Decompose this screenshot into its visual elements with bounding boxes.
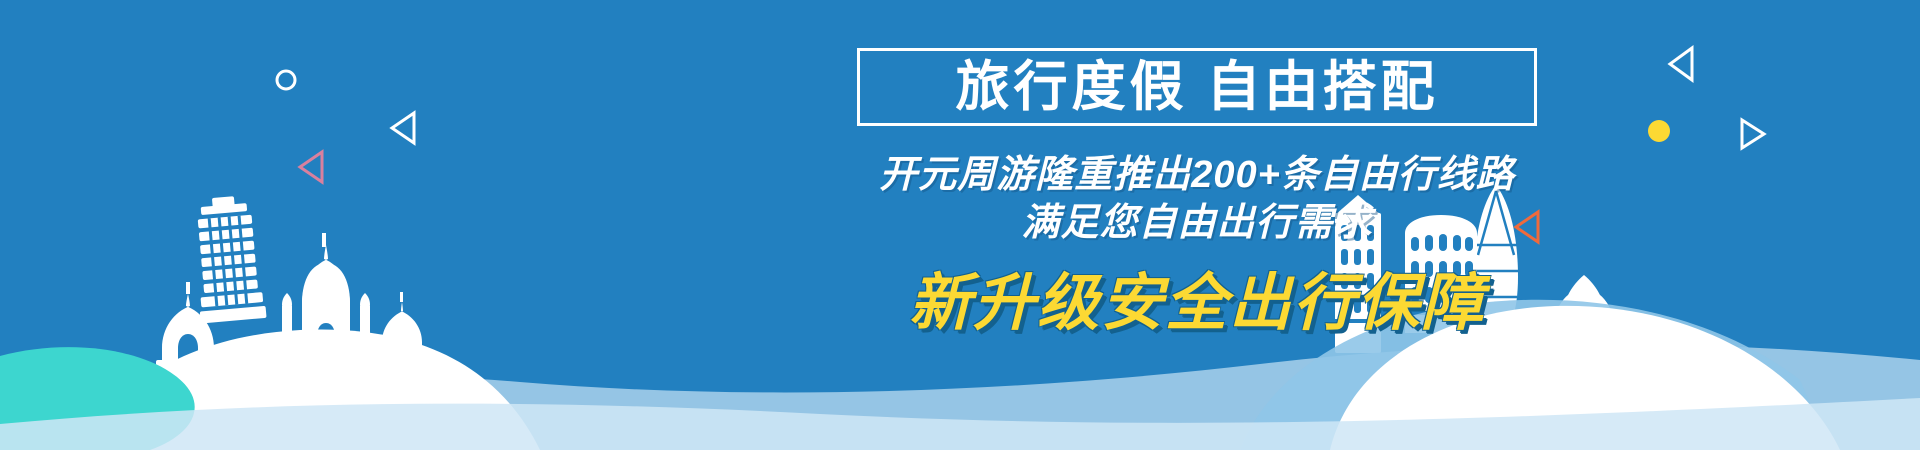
dot-yellow-icon xyxy=(1648,120,1670,142)
banner-artwork xyxy=(0,0,1920,450)
travel-promo-banner: 旅行度假 自由搭配 开元周游隆重推出200+条自由行线路 满足您自由出行需求 新… xyxy=(0,0,1920,450)
